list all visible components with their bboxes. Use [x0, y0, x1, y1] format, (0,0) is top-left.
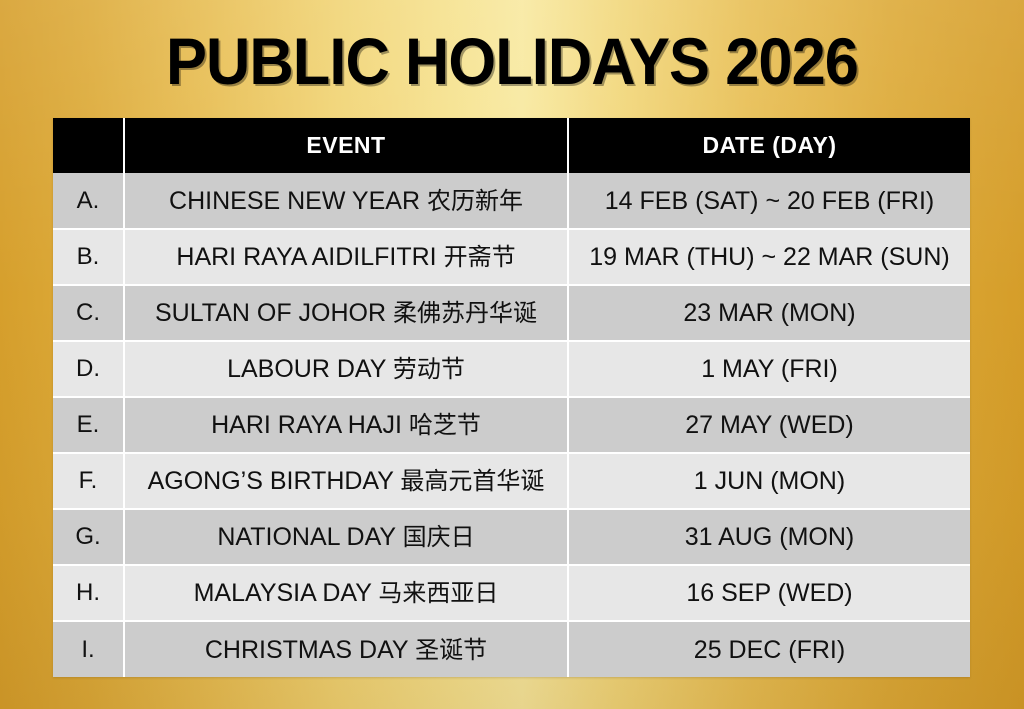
date-cell: 14 FEB (SAT) ~ 20 FEB (FRI): [568, 173, 970, 229]
column-header-event: EVENT: [124, 118, 568, 173]
column-header-date: DATE (DAY): [568, 118, 970, 173]
row-index-label: A.: [53, 173, 124, 229]
table-header-row: EVENT DATE (DAY): [53, 118, 970, 173]
table-row: D.LABOUR DAY 劳动节1 MAY (FRI): [53, 341, 970, 397]
event-name-en: CHRISTMAS DAY: [205, 636, 408, 664]
date-cell: 23 MAR (MON): [568, 285, 970, 341]
date-cell: 1 MAY (FRI): [568, 341, 970, 397]
table-row: A.CHINESE NEW YEAR 农历新年14 FEB (SAT) ~ 20…: [53, 173, 970, 229]
poster-page: PUBLIC HOLIDAYS 2026 EVENT DATE (DAY) A.…: [0, 0, 1024, 709]
event-name-cn: 马来西亚日: [378, 579, 498, 607]
event-name-cn: 国庆日: [403, 523, 475, 551]
event-name-en: HARI RAYA HAJI: [211, 411, 402, 439]
table-row: F.AGONG’S BIRTHDAY 最高元首华诞1 JUN (MON): [53, 453, 970, 509]
event-cell: CHINESE NEW YEAR 农历新年: [124, 173, 568, 229]
table-header: EVENT DATE (DAY): [53, 118, 970, 173]
event-name-en: NATIONAL DAY: [217, 523, 395, 551]
event-name-cn: 开斋节: [444, 243, 516, 271]
date-cell: 16 SEP (WED): [568, 565, 970, 621]
date-cell: 1 JUN (MON): [568, 453, 970, 509]
table-row: G.NATIONAL DAY 国庆日31 AUG (MON): [53, 509, 970, 565]
event-name-cn: 最高元首华诞: [400, 467, 544, 495]
table-row: I.CHRISTMAS DAY 圣诞节25 DEC (FRI): [53, 621, 970, 677]
event-name-en: SULTAN OF JOHOR: [155, 299, 386, 327]
date-cell: 19 MAR (THU) ~ 22 MAR (SUN): [568, 229, 970, 285]
row-index-label: H.: [53, 565, 124, 621]
event-name-cn: 圣诞节: [415, 636, 487, 664]
row-index-label: F.: [53, 453, 124, 509]
event-cell: HARI RAYA AIDILFITRI 开斋节: [124, 229, 568, 285]
table-row: B.HARI RAYA AIDILFITRI 开斋节19 MAR (THU) ~…: [53, 229, 970, 285]
row-index-label: C.: [53, 285, 124, 341]
table-row: H.MALAYSIA DAY 马来西亚日16 SEP (WED): [53, 565, 970, 621]
date-cell: 25 DEC (FRI): [568, 621, 970, 677]
event-name-cn: 劳动节: [393, 355, 465, 383]
row-index-label: D.: [53, 341, 124, 397]
event-name-en: CHINESE NEW YEAR: [169, 187, 420, 215]
row-index-label: G.: [53, 509, 124, 565]
date-cell: 31 AUG (MON): [568, 509, 970, 565]
row-index-label: E.: [53, 397, 124, 453]
holiday-table-container: EVENT DATE (DAY) A.CHINESE NEW YEAR 农历新年…: [53, 118, 970, 677]
event-cell: SULTAN OF JOHOR 柔佛苏丹华诞: [124, 285, 568, 341]
holiday-table: EVENT DATE (DAY) A.CHINESE NEW YEAR 农历新年…: [53, 118, 970, 677]
event-cell: CHRISTMAS DAY 圣诞节: [124, 621, 568, 677]
table-body: A.CHINESE NEW YEAR 农历新年14 FEB (SAT) ~ 20…: [53, 173, 970, 677]
event-cell: AGONG’S BIRTHDAY 最高元首华诞: [124, 453, 568, 509]
column-header-index: [53, 118, 124, 173]
row-index-label: B.: [53, 229, 124, 285]
event-cell: NATIONAL DAY 国庆日: [124, 509, 568, 565]
event-name-en: LABOUR DAY: [227, 355, 386, 383]
event-name-en: AGONG’S BIRTHDAY: [148, 467, 394, 495]
event-cell: LABOUR DAY 劳动节: [124, 341, 568, 397]
table-row: E.HARI RAYA HAJI 哈芝节27 MAY (WED): [53, 397, 970, 453]
event-cell: MALAYSIA DAY 马来西亚日: [124, 565, 568, 621]
event-name-cn: 哈芝节: [409, 411, 481, 439]
page-title: PUBLIC HOLIDAYS 2026: [36, 22, 988, 100]
event-name-en: MALAYSIA DAY: [194, 579, 372, 607]
event-name-cn: 农历新年: [427, 187, 523, 215]
event-name-cn: 柔佛苏丹华诞: [393, 299, 537, 327]
table-row: C.SULTAN OF JOHOR 柔佛苏丹华诞23 MAR (MON): [53, 285, 970, 341]
row-index-label: I.: [53, 621, 124, 677]
date-cell: 27 MAY (WED): [568, 397, 970, 453]
event-name-en: HARI RAYA AIDILFITRI: [176, 243, 436, 271]
event-cell: HARI RAYA HAJI 哈芝节: [124, 397, 568, 453]
